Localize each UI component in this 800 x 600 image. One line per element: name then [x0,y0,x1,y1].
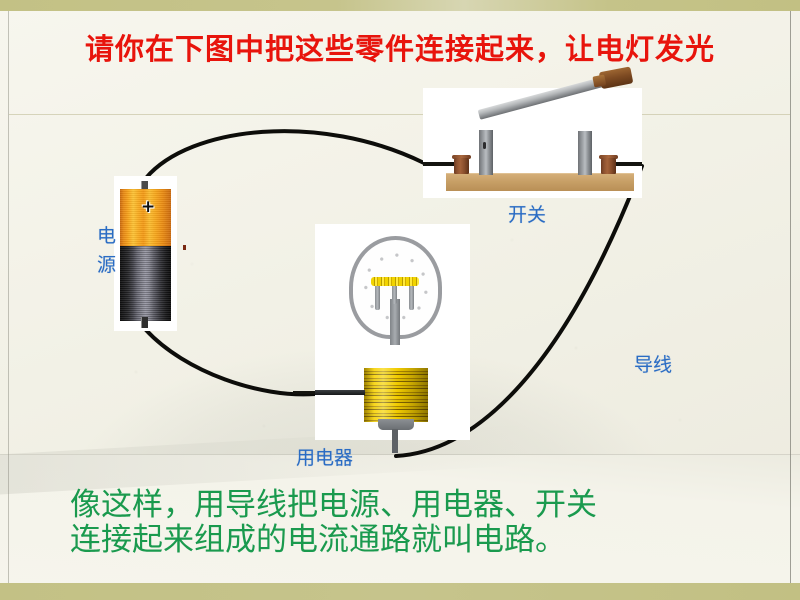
switch-post-right [578,131,592,175]
lamp-component[interactable] [315,224,470,440]
wire-battery-to-lamp [146,330,315,394]
label-power-source: 电源 [97,222,123,280]
switch-terminal-right[interactable] [601,158,616,174]
switch-post-left [479,130,493,175]
conclusion-line-2: 连接起来组成的电流通路就叫电路。 [70,523,597,558]
battery-lower-shell [120,246,171,321]
battery-side-dot [183,245,186,250]
lamp-filament [371,277,419,286]
lamp-screw-base [364,368,428,422]
lamp-filament-support-3 [409,284,414,310]
battery-plus-icon: + [141,201,154,214]
lamp-filament-support-1 [375,284,380,310]
switch-terminal-left[interactable] [454,158,469,174]
slide-canvas: 请你在下图中把这些零件连接起来，让电灯发光 + 电源 [0,0,800,600]
lamp-wire-left-lead [293,391,317,394]
switch-pivot-hole [483,142,486,149]
conclusion-line-1: 像这样，用导线把电源、用电器、开关 [70,488,597,523]
label-switch: 开关 [508,200,546,227]
lamp-bottom-contact-lead [392,429,398,453]
lamp-stem [390,299,400,345]
switch-component[interactable] [423,88,642,198]
battery-body: + [120,189,171,321]
label-load: 用电器 [296,443,353,470]
battery-upper-shell: + [120,189,171,246]
conclusion-text: 像这样，用导线把电源、用电器、开关 连接起来组成的电流通路就叫电路。 [70,488,597,558]
switch-wooden-base [446,173,634,191]
label-wire: 导线 [634,350,672,377]
lamp-side-contact-lead [315,390,365,395]
wire-battery-to-switch [146,131,424,178]
battery-negative-terminal [141,317,148,328]
battery-component[interactable]: + [114,176,177,331]
